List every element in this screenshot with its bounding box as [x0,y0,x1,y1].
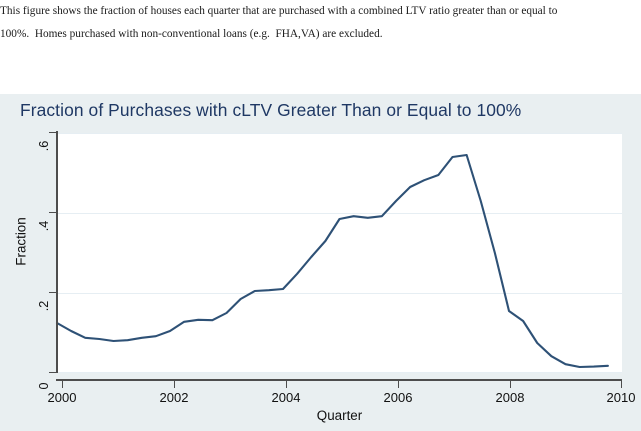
x-tick-label-2000: 2000 [32,390,92,405]
y-tick-label-0.4: .4 [37,212,51,240]
y-axis-line [56,131,58,373]
x-tick-label-2006: 2006 [368,390,428,405]
plot-area [57,133,622,373]
chart-panel: Fraction of Purchases with cLTV Greater … [0,94,641,431]
y-tick-0: 0 [14,365,44,379]
data-line-svg [57,133,622,373]
figure-page: This figure shows the fraction of houses… [0,0,641,431]
x-tick-label-2010: 2010 [591,390,641,405]
x-axis-label: Quarter [57,408,622,423]
x-tick-mark-2002 [174,380,175,388]
x-tick-mark-2010 [621,380,622,388]
x-axis-line [56,379,622,381]
y-axis-label: Fraction [14,202,29,282]
y-tick-label-0.2: .2 [37,292,51,320]
series-line-fraction [57,155,608,367]
x-tick-label-2002: 2002 [144,390,204,405]
y-tick-0.2: .2 [14,285,44,299]
y-tick-0.6: .6 [14,125,44,139]
x-tick-label-2004: 2004 [256,390,316,405]
x-tick-mark-2006 [398,380,399,388]
figure-caption: This figure shows the fraction of houses… [0,0,560,45]
x-tick-mark-2000 [62,380,63,388]
y-tick-label-0.6: .6 [37,132,51,160]
chart-title: Fraction of Purchases with cLTV Greater … [20,100,641,121]
x-tick-label-2008: 2008 [480,390,540,405]
x-tick-mark-2004 [286,380,287,388]
x-tick-mark-2008 [510,380,511,388]
